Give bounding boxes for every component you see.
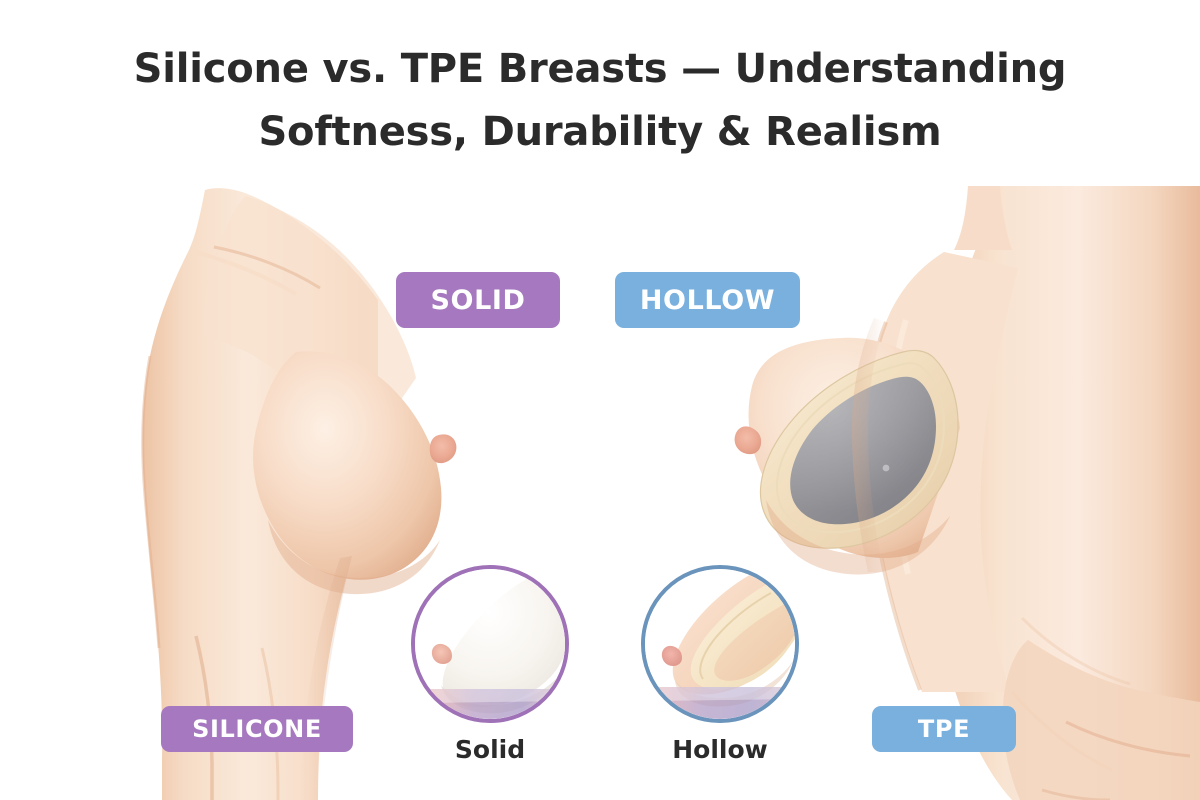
badge-silicone-label: SILICONE (192, 715, 322, 743)
badge-hollow: HOLLOW (615, 272, 800, 328)
inset-hollow-circle (641, 565, 799, 723)
inset-solid-circle (411, 565, 569, 723)
badge-solid-label: SOLID (430, 285, 525, 316)
inset-solid: Solid (411, 565, 569, 723)
inset-hollow: Hollow (641, 565, 799, 723)
inset-solid-caption: Solid (371, 735, 609, 764)
right-cavity-speck (883, 465, 890, 472)
badge-hollow-label: HOLLOW (640, 285, 775, 316)
badge-tpe-label: TPE (918, 715, 970, 743)
title-line-2: Softness, Durability & Realism (0, 101, 1200, 164)
inset-solid-artwork (415, 569, 565, 719)
page-title: Silicone vs. TPE Breasts — Understanding… (0, 38, 1200, 164)
badge-tpe: TPE (872, 706, 1016, 752)
inset-hollow-artwork (645, 569, 795, 719)
title-line-1: Silicone vs. TPE Breasts — Understanding (0, 38, 1200, 101)
badge-silicone: SILICONE (161, 706, 353, 752)
inset-hollow-base-highlight (655, 687, 795, 701)
inset-solid-base-highlight (427, 689, 565, 703)
badge-solid: SOLID (396, 272, 560, 328)
inset-hollow-caption: Hollow (601, 735, 839, 764)
left-nipple (430, 434, 457, 463)
